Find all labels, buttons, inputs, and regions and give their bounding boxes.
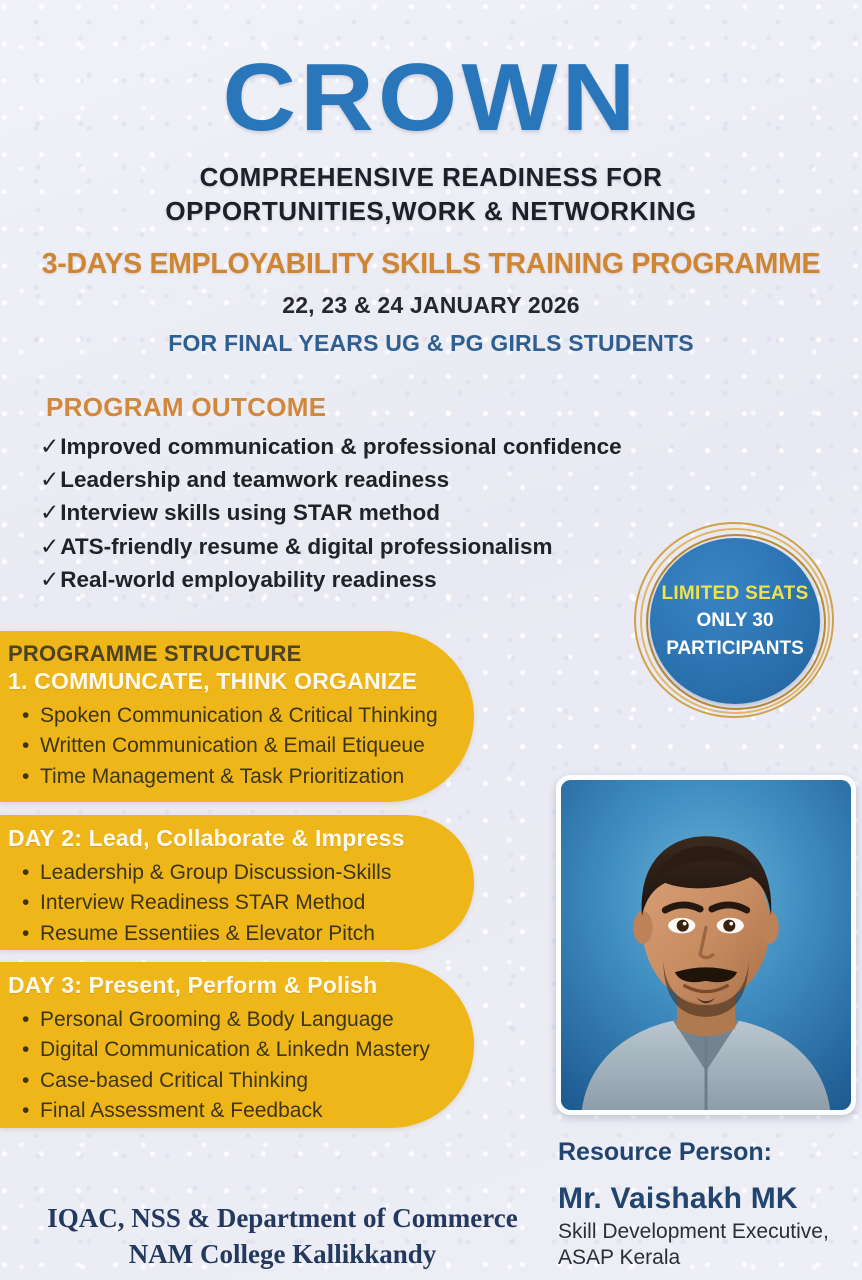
list-item: ✓Real-world employability readiness (40, 563, 680, 596)
day-1-list: Spoken Communication & Critical Thinking… (8, 701, 474, 793)
resource-person-label: Resource Person: (558, 1138, 772, 1167)
list-item: Time Management & Task Prioritization (22, 762, 474, 793)
programme-structure-heading: PROGRAMME STRUCTURE (8, 640, 474, 667)
portrait-illustration (561, 780, 851, 1110)
list-item: ✓ATS-friendly resume & digital professio… (40, 530, 680, 563)
badge-line-2: ONLY 30 (696, 607, 773, 635)
list-item: Personal Grooming & Body Language (22, 1005, 474, 1036)
tagline-line-2: OPPORTUNITIES,WORK & NETWORKING (0, 194, 862, 228)
day-2-title: DAY 2: Lead, Collaborate & Impress (8, 824, 474, 854)
organizer-line-2: NAM College Kallikkandy (10, 1236, 555, 1272)
list-item: Interview Readiness STAR Method (22, 888, 474, 919)
outcome-text: Improved communication & professional co… (60, 434, 621, 459)
check-icon: ✓ (40, 499, 59, 525)
tagline-line-1: COMPREHENSIVE READINESS FOR (0, 160, 862, 194)
list-item: Resume Essentiies & Elevator Pitch (22, 919, 474, 950)
day-3-card: DAY 3: Present, Perform & Polish Persona… (0, 962, 474, 1128)
list-item: ✓Interview skills using STAR method (40, 496, 680, 529)
day-3-title: DAY 3: Present, Perform & Polish (8, 971, 474, 1001)
list-item: Spoken Communication & Critical Thinking (22, 701, 474, 732)
resource-person-role: Skill Development Executive, ASAP Kerala (558, 1219, 858, 1271)
badge-line-1: LIMITED SEATS (661, 580, 808, 608)
organizers: IQAC, NSS & Department of Commerce NAM C… (10, 1200, 555, 1273)
badge-line-3: PARTICIPANTS (666, 635, 804, 663)
programme-title: 3-DAYS EMPLOYABILITY SKILLS TRAINING PRO… (0, 248, 862, 281)
resource-person-name: Mr. Vaishakh MK (558, 1182, 798, 1216)
list-item: Digital Communication & Linkedn Mastery (22, 1035, 474, 1066)
brand-title: CROWN (0, 50, 862, 146)
organizer-line-1: IQAC, NSS & Department of Commerce (10, 1200, 555, 1236)
list-item: Written Communication & Email Etiqueue (22, 731, 474, 762)
program-outcome-heading: PROGRAM OUTCOME (46, 392, 326, 423)
limited-seats-badge: LIMITED SEATS ONLY 30 PARTICIPANTS (634, 536, 834, 699)
check-icon: ✓ (40, 433, 59, 459)
list-item: Case-based Critical Thinking (22, 1066, 474, 1097)
outcome-text: Leadership and teamwork readiness (60, 467, 449, 492)
check-icon: ✓ (40, 466, 59, 492)
badge-disc: LIMITED SEATS ONLY 30 PARTICIPANTS (650, 538, 820, 704)
day-1-title: 1. COMMUNCATE, THINK ORGANIZE (8, 667, 474, 697)
programme-audience: FOR FINAL YEARS UG & PG GIRLS STUDENTS (0, 330, 862, 357)
day-3-list: Personal Grooming & Body Language Digita… (8, 1005, 474, 1127)
outcome-text: Interview skills using STAR method (60, 500, 440, 525)
resource-person-photo (561, 780, 851, 1110)
day-1-card: PROGRAMME STRUCTURE 1. COMMUNCATE, THINK… (0, 631, 474, 802)
program-outcome-list: ✓Improved communication & professional c… (40, 430, 680, 596)
brand-tagline: COMPREHENSIVE READINESS FOR OPPORTUNITIE… (0, 160, 862, 229)
check-icon: ✓ (40, 566, 59, 592)
programme-dates: 22, 23 & 24 JANUARY 2026 (0, 292, 862, 319)
outcome-text: ATS-friendly resume & digital profession… (60, 534, 552, 559)
day-2-list: Leadership & Group Discussion-Skills Int… (8, 858, 474, 950)
list-item: ✓Improved communication & professional c… (40, 430, 680, 463)
list-item: Leadership & Group Discussion-Skills (22, 858, 474, 889)
check-icon: ✓ (40, 533, 59, 559)
resource-person-role-line-1: Skill Development Executive, (558, 1219, 858, 1245)
list-item: Final Assessment & Feedback (22, 1096, 474, 1127)
outcome-text: Real-world employability readiness (60, 567, 436, 592)
day-2-card: DAY 2: Lead, Collaborate & Impress Leade… (0, 815, 474, 950)
resource-person-role-line-2: ASAP Kerala (558, 1245, 858, 1271)
list-item: ✓Leadership and teamwork readiness (40, 463, 680, 496)
resource-person-photo-frame (556, 775, 856, 1115)
poster-canvas: CROWN COMPREHENSIVE READINESS FOR OPPORT… (0, 0, 862, 1280)
